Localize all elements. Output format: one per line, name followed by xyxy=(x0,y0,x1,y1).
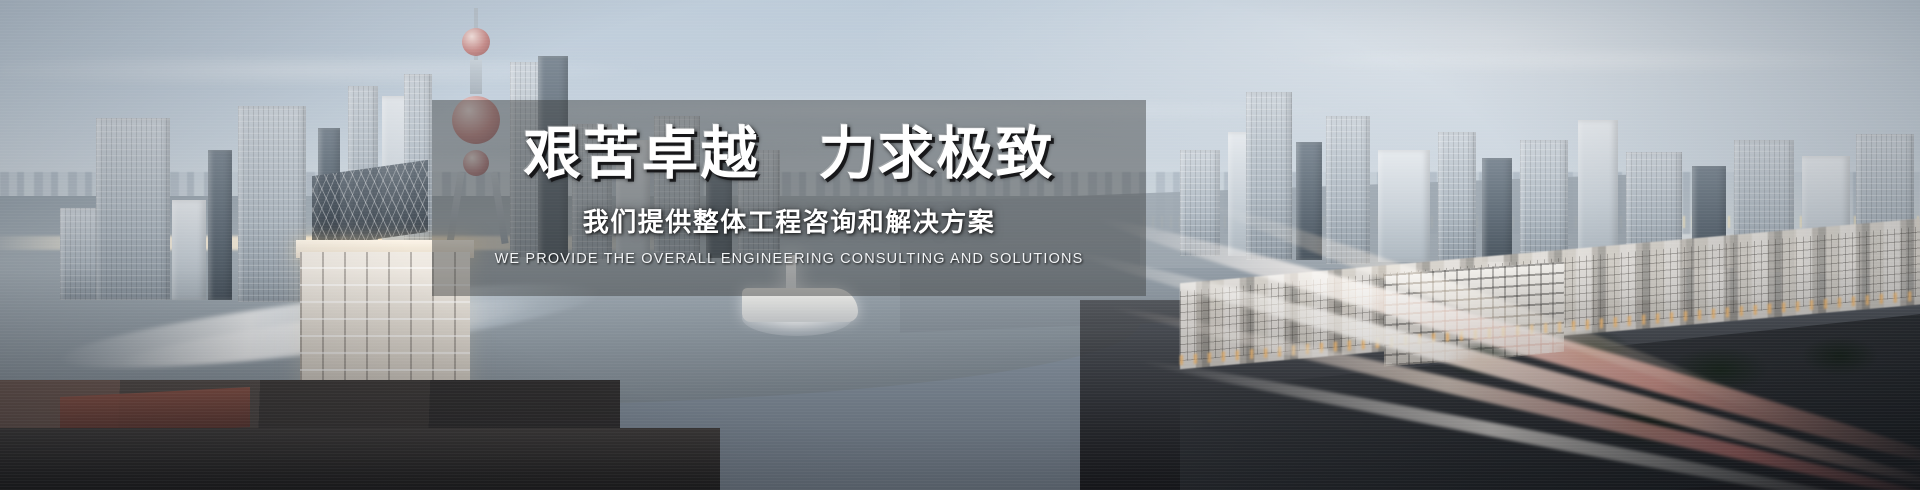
hero-subtitle-chinese: 我们提供整体工程咨询和解决方案 xyxy=(583,202,996,239)
tower-slim-left xyxy=(208,150,232,300)
tower-highrise-left-b xyxy=(238,106,306,302)
oriental-pearl-upper-sphere xyxy=(462,28,490,56)
hero-headline: 艰苦卓越 力求极致 xyxy=(524,124,1055,184)
tower-far-left-c xyxy=(172,200,206,300)
tower-right-g xyxy=(1438,132,1476,262)
hero-banner: 艰苦卓越 力求极致 我们提供整体工程咨询和解决方案 WE PROVIDE THE… xyxy=(0,0,1920,490)
foreground-rooftops-lower xyxy=(0,428,720,490)
hero-subtitle-english: WE PROVIDE THE OVERALL ENGINEERING CONSU… xyxy=(495,251,1084,267)
tower-right-f xyxy=(1378,150,1430,262)
tower-right-i xyxy=(1520,140,1568,264)
tower-highrise-left xyxy=(96,118,170,300)
tower-right-j xyxy=(1578,120,1618,266)
oriental-pearl-shaft xyxy=(470,60,482,94)
tower-right-h xyxy=(1482,158,1512,262)
hero-copy-block: 艰苦卓越 力求极致 我们提供整体工程咨询和解决方案 WE PROVIDE THE… xyxy=(432,100,1146,296)
